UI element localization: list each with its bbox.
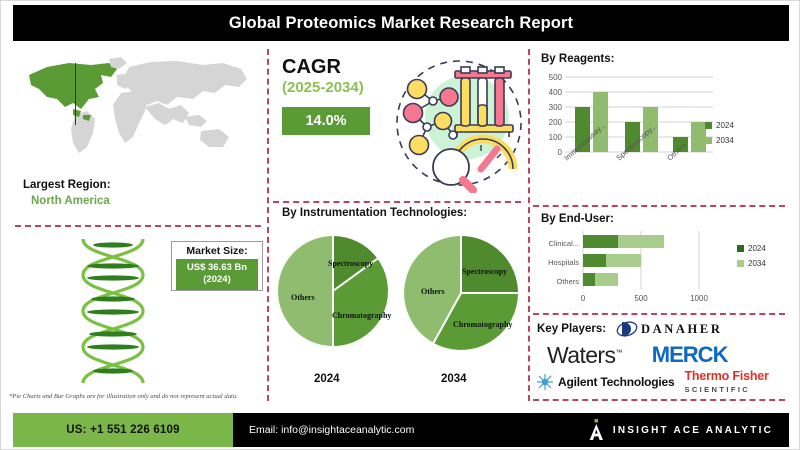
svg-text:1000: 1000 [690, 294, 708, 303]
enduser-legend-item-2034: 2034 [737, 259, 766, 268]
svg-text:500: 500 [634, 294, 648, 303]
page-title: Global Proteomics Market Research Report [229, 14, 573, 33]
pie-2034-year: 2034 [441, 373, 467, 385]
footer-brand: INSIGHT ACE ANALYTIC [589, 413, 773, 447]
market-size-card: Market Size: US$ 36.63 Bn (2024) [171, 241, 263, 291]
legend-label-2024: 2024 [716, 121, 734, 130]
svg-text:Others: Others [556, 277, 579, 286]
svg-text:400: 400 [549, 88, 563, 97]
pie-2034-label-spectroscopy: Spectroscopy [462, 267, 507, 276]
footer-bar: US: +1 551 226 6109 Email: info@insighta… [13, 413, 789, 447]
footer-email-text[interactable]: Email: info@insightaceanalytic.com [249, 424, 414, 436]
svg-text:300: 300 [549, 103, 563, 112]
header-bar: Global Proteomics Market Research Report [13, 5, 789, 41]
infographic-poster: Global Proteomics Market Research Report [0, 0, 800, 450]
thermofisher-logo: Thermo Fisher SCIENTIFIC [684, 370, 768, 395]
cagr-badge: 14.0% [282, 107, 370, 135]
divider-horizontal-right-2 [533, 313, 785, 315]
cagr-years: (2025-2034) [282, 79, 364, 96]
pie-2034-label-others: Others [421, 287, 445, 296]
waters-logo: Waters™ [547, 342, 622, 369]
largest-region-value: North America [31, 195, 110, 207]
svg-text:Hospitals: Hospitals [548, 258, 579, 267]
pie-2024-year: 2024 [314, 373, 340, 385]
map-pointer-line [75, 63, 76, 125]
thermofisher-wordmark: Thermo Fisher [684, 369, 768, 383]
instrumentation-chart-title: By Instrumentation Technologies: [282, 207, 467, 219]
footer-dark-block: Email: info@insightaceanalytic.com INSIG… [233, 413, 789, 447]
largest-region-label: Largest Region: [23, 179, 111, 191]
agilent-mark-icon [537, 374, 553, 390]
disclaimer-footnote: *Pie Charts and Bar Graphs are for illus… [9, 393, 238, 400]
divider-horizontal-left [15, 225, 261, 227]
enduser-legend: 2024 2034 [737, 244, 766, 274]
pie-2024-label-spectroscopy: Spectroscopy [328, 259, 373, 268]
pie-2024-label-others: Others [291, 293, 315, 302]
cagr-value: 14.0% [305, 113, 346, 129]
enduser-bar-chart: Clinical... Hospitals Others 0 500 1000 [537, 229, 727, 311]
divider-vertical-left [267, 49, 269, 401]
footer-phone-text: US: +1 551 226 6109 [66, 424, 179, 436]
agilent-wordmark: Agilent Technologies [558, 375, 674, 389]
dna-helix-icon [61, 235, 165, 383]
enduser-legend-swatch-2024 [737, 245, 744, 252]
svg-text:Clinical...: Clinical... [549, 239, 579, 248]
enduser-legend-item-2024: 2024 [737, 244, 766, 253]
insight-ace-a-logo-icon [589, 419, 604, 441]
pie-chart-2024 [277, 233, 389, 349]
footer-brand-text: INSIGHT ACE ANALYTIC [613, 425, 773, 436]
market-size-amount: US$ 36.63 Bn [176, 262, 258, 274]
danaher-mark-icon [616, 320, 638, 338]
pie-2024-label-chromatography: Chromatography [332, 311, 391, 320]
dna-helix-svg [61, 235, 165, 383]
merck-logo: Merck [652, 342, 728, 368]
cagr-label: CAGR [282, 56, 341, 79]
world-map [17, 53, 255, 171]
market-size-value: US$ 36.63 Bn (2024) [176, 259, 258, 290]
danaher-logo: Danaher [616, 320, 722, 338]
lab-research-illustration [393, 53, 525, 193]
market-size-label: Market Size: [172, 245, 262, 257]
divider-horizontal-right-1 [533, 205, 785, 207]
danaher-wordmark: Danaher [641, 322, 722, 337]
footer-phone-block[interactable]: US: +1 551 226 6109 [13, 413, 233, 447]
reagents-legend: 2024 2034 [705, 121, 734, 151]
pie-2034-label-chromatography: Chromatography [453, 320, 512, 329]
legend-item-2024: 2024 [705, 121, 734, 130]
lab-research-svg [393, 53, 525, 193]
enduser-legend-label-2024: 2024 [748, 244, 766, 253]
enduser-bar-svg: Clinical... Hospitals Others 0 500 1000 [537, 229, 727, 311]
svg-text:200: 200 [549, 118, 563, 127]
enduser-chart-title: By End-User: [541, 213, 614, 225]
waters-wordmark: Waters [547, 342, 615, 368]
legend-label-2034: 2034 [716, 136, 734, 145]
enduser-legend-label-2034: 2034 [748, 259, 766, 268]
svg-text:100: 100 [549, 133, 563, 142]
divider-horizontal-middle [273, 201, 521, 203]
thermofisher-subtext: SCIENTIFIC [684, 385, 750, 394]
divider-vertical-right [528, 49, 530, 401]
world-map-icon [17, 53, 255, 158]
legend-item-2034: 2034 [705, 136, 734, 145]
svg-text:0: 0 [581, 294, 586, 303]
divider-horizontal-bottom [533, 399, 785, 401]
reagents-chart-title: By Reagents: [541, 53, 615, 65]
legend-swatch-2034 [705, 137, 712, 144]
enduser-legend-swatch-2034 [737, 260, 744, 267]
market-size-year: (2024) [176, 274, 258, 286]
pie-2024-svg [277, 233, 389, 349]
key-players-section: Key Players: Danaher Waters™ Merck [537, 317, 793, 395]
key-players-label: Key Players: [537, 323, 606, 335]
svg-text:500: 500 [549, 73, 563, 82]
legend-swatch-2024 [705, 122, 712, 129]
